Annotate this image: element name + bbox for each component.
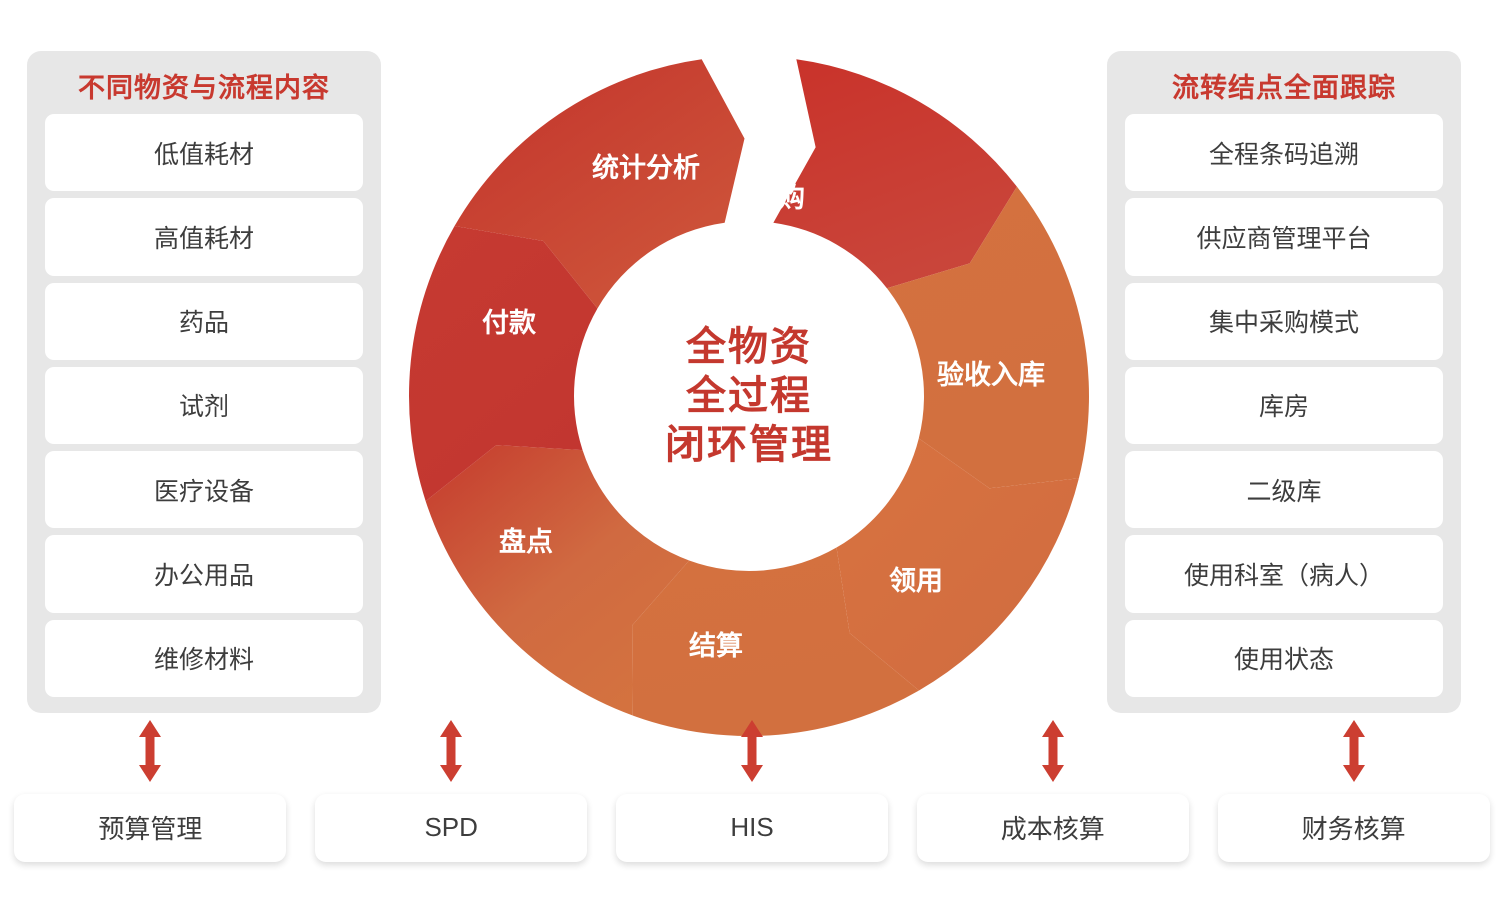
process-cycle-donut: 采购验收入库领用结算盘点付款统计分析 全物资 全过程 闭环管理 xyxy=(408,55,1090,737)
right-panel-title: 流转结点全面跟踪 xyxy=(1125,65,1443,114)
right-panel-item-5[interactable]: 使用科室（病人） xyxy=(1125,535,1443,612)
bottom-cell-0: 预算管理 xyxy=(0,775,301,880)
donut-segment-label-验收入库: 验收入库 xyxy=(937,359,1045,390)
donut-segment-label-盘点: 盘点 xyxy=(499,526,553,557)
left-panel-title: 不同物资与流程内容 xyxy=(45,65,363,114)
double-arrow-icon xyxy=(1041,720,1065,782)
center-line-2: 全过程 xyxy=(599,372,899,421)
bottom-card-0[interactable]: 预算管理 xyxy=(14,794,286,862)
center-line-1: 全物资 xyxy=(599,323,899,372)
bottom-card-4[interactable]: 财务核算 xyxy=(1218,794,1490,862)
bottom-card-3[interactable]: 成本核算 xyxy=(917,794,1189,862)
bottom-card-1[interactable]: SPD xyxy=(315,794,587,862)
double-arrow-icon xyxy=(740,720,764,782)
center-line-3: 闭环管理 xyxy=(599,420,899,469)
bottom-cell-2: HIS xyxy=(602,775,903,880)
donut-segment-label-领用: 领用 xyxy=(889,566,943,596)
right-panel-item-4[interactable]: 二级库 xyxy=(1125,451,1443,528)
left-panel: 不同物资与流程内容 低值耗材 高值耗材 药品 试剂 医疗设备 办公用品 维修材料 xyxy=(27,51,381,713)
left-panel-item-4[interactable]: 医疗设备 xyxy=(45,451,363,528)
left-panel-item-list: 低值耗材 高值耗材 药品 试剂 医疗设备 办公用品 维修材料 xyxy=(45,114,363,697)
bottom-systems-row: 预算管理 SPD HIS 成本核算 财务核算 xyxy=(0,775,1504,880)
left-panel-item-0[interactable]: 低值耗材 xyxy=(45,114,363,191)
bottom-cell-4: 财务核算 xyxy=(1203,775,1504,880)
right-panel-item-6[interactable]: 使用状态 xyxy=(1125,620,1443,697)
right-panel-item-list: 全程条码追溯 供应商管理平台 集中采购模式 库房 二级库 使用科室（病人） 使用… xyxy=(1125,114,1443,697)
left-panel-item-3[interactable]: 试剂 xyxy=(45,367,363,444)
right-panel-item-3[interactable]: 库房 xyxy=(1125,367,1443,444)
bottom-cell-1: SPD xyxy=(301,775,602,880)
right-panel-item-1[interactable]: 供应商管理平台 xyxy=(1125,198,1443,275)
bottom-card-2[interactable]: HIS xyxy=(616,794,888,862)
right-panel: 流转结点全面跟踪 全程条码追溯 供应商管理平台 集中采购模式 库房 二级库 使用… xyxy=(1107,51,1461,713)
donut-segment-label-付款: 付款 xyxy=(482,308,537,338)
donut-segment-label-结算: 结算 xyxy=(689,630,743,661)
donut-segment-label-采购: 采购 xyxy=(751,183,805,213)
donut-center-text: 全物资 全过程 闭环管理 xyxy=(599,323,899,469)
left-panel-item-2[interactable]: 药品 xyxy=(45,283,363,360)
right-panel-item-2[interactable]: 集中采购模式 xyxy=(1125,283,1443,360)
double-arrow-icon xyxy=(138,720,162,782)
left-panel-item-6[interactable]: 维修材料 xyxy=(45,620,363,697)
bottom-cell-3: 成本核算 xyxy=(902,775,1203,880)
double-arrow-icon xyxy=(439,720,463,782)
double-arrow-icon xyxy=(1342,720,1366,782)
left-panel-item-5[interactable]: 办公用品 xyxy=(45,535,363,612)
right-panel-item-0[interactable]: 全程条码追溯 xyxy=(1125,114,1443,191)
left-panel-item-1[interactable]: 高值耗材 xyxy=(45,198,363,275)
donut-segment-label-统计分析: 统计分析 xyxy=(592,152,700,183)
